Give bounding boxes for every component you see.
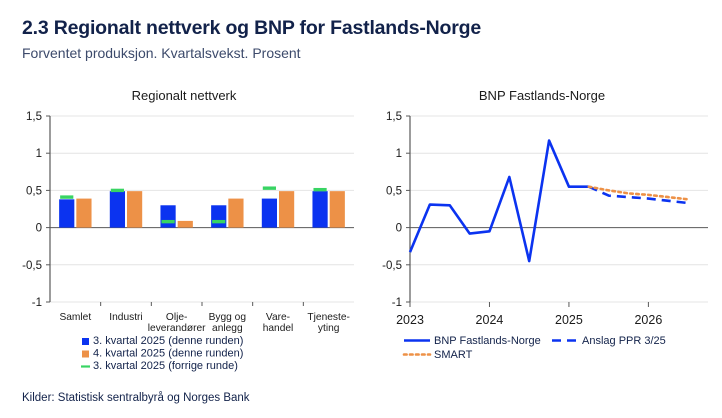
bar-group: Vare-handel xyxy=(262,188,304,334)
bar-group: Olje-leverandører xyxy=(148,205,206,334)
bar-this-round-q4 xyxy=(76,199,91,228)
bar-this-round-q3 xyxy=(59,199,74,227)
chart-panels: Regionalt nettverk -1-0,500,511,5SamletI… xyxy=(0,88,722,388)
source-note: Kilder: Statistisk sentralbyrå og Norges… xyxy=(22,392,250,404)
legend-label: SMART xyxy=(434,349,473,361)
category-label: Bygg og xyxy=(209,312,247,323)
y-tick-label: -0,5 xyxy=(22,260,42,272)
y-tick-label: 0 xyxy=(36,223,42,235)
category-label: Samlet xyxy=(59,312,91,323)
bar-this-round-q3 xyxy=(312,191,327,227)
category-label: yting xyxy=(318,323,340,334)
y-tick-label: -1 xyxy=(32,297,42,309)
y-tick-label: 1,5 xyxy=(26,111,42,123)
panel-title-right: BNP Fastlands-Norge xyxy=(364,88,720,103)
category-label: anlegg xyxy=(212,323,243,334)
y-tick-label: 0 xyxy=(396,223,402,235)
legend-label: 3. kvartal 2025 (denne runden) xyxy=(93,335,243,347)
figure-subtitle: Forventet produksjon. Kvartalsvekst. Pro… xyxy=(22,46,722,61)
bar-group: Bygg oganlegg xyxy=(209,199,253,334)
category-label: Tjeneste- xyxy=(307,312,349,323)
category-label: Industri xyxy=(109,312,142,323)
legend-label: Anslag PPR 3/25 xyxy=(582,335,666,347)
y-tick-label: 1 xyxy=(36,148,42,160)
page-title: 2.3 Regionalt nettverk og BNP for Fastla… xyxy=(22,18,722,39)
bar-group: Tjeneste-yting xyxy=(307,190,349,334)
y-tick-label: 1,5 xyxy=(386,111,402,123)
figure-root: 2.3 Regionalt nettverk og BNP for Fastla… xyxy=(0,0,722,418)
bar-this-round-q4 xyxy=(228,199,243,228)
bar-this-round-q3 xyxy=(110,191,125,227)
panel-bnp-fastlands-norge: BNP Fastlands-Norge -1-0,500,511,5202320… xyxy=(364,88,720,388)
y-tick-label: 0,5 xyxy=(26,185,42,197)
bar-this-round-q4 xyxy=(127,191,142,227)
category-label: Olje- xyxy=(166,312,188,323)
legend-swatch xyxy=(82,338,89,345)
x-tick-label: 2024 xyxy=(476,313,504,327)
bar-this-round-q4 xyxy=(178,221,193,228)
legend-label: 3. kvartal 2025 (forrige runde) xyxy=(93,360,238,372)
bar-this-round-q3 xyxy=(211,205,226,227)
legend-swatch xyxy=(82,351,89,358)
category-label: leverandører xyxy=(148,323,206,334)
bar-chart-regionalt-nettverk: -1-0,500,511,5SamletIndustriOlje-leveran… xyxy=(6,88,362,388)
y-tick-label: 0,5 xyxy=(386,185,402,197)
legend-label: 4. kvartal 2025 (denne runden) xyxy=(93,348,243,360)
panel-title-left: Regionalt nettverk xyxy=(6,88,362,103)
bar-this-round-q4 xyxy=(330,191,345,227)
legend-right: BNP Fastlands-NorgeAnslag PPR 3/25SMART xyxy=(404,335,666,361)
y-tick-label: 1 xyxy=(396,148,402,160)
bar-this-round-q4 xyxy=(279,191,294,227)
y-tick-label: -1 xyxy=(392,297,402,309)
x-tick-label: 2023 xyxy=(396,313,424,327)
x-tick-label: 2026 xyxy=(634,313,662,327)
bar-this-round-q3 xyxy=(262,199,277,228)
x-tick-label: 2025 xyxy=(555,313,583,327)
bar-group: Samlet xyxy=(59,197,101,323)
legend-left: 3. kvartal 2025 (denne runden)4. kvartal… xyxy=(81,335,243,372)
bar-group: Industri xyxy=(109,190,151,323)
y-tick-label: -0,5 xyxy=(382,260,402,272)
category-label: Vare- xyxy=(266,312,290,323)
bar-this-round-q3 xyxy=(160,205,175,227)
panel-regionalt-nettverk: Regionalt nettverk -1-0,500,511,5SamletI… xyxy=(6,88,362,388)
line-chart-bnp-fastlands-norge: -1-0,500,511,52023202420252026BNP Fastla… xyxy=(364,88,720,388)
category-label: handel xyxy=(263,323,294,334)
legend-label: BNP Fastlands-Norge xyxy=(434,335,541,347)
series-line-solid xyxy=(410,141,589,262)
figure-header: 2.3 Regionalt nettverk og BNP for Fastla… xyxy=(0,0,722,62)
